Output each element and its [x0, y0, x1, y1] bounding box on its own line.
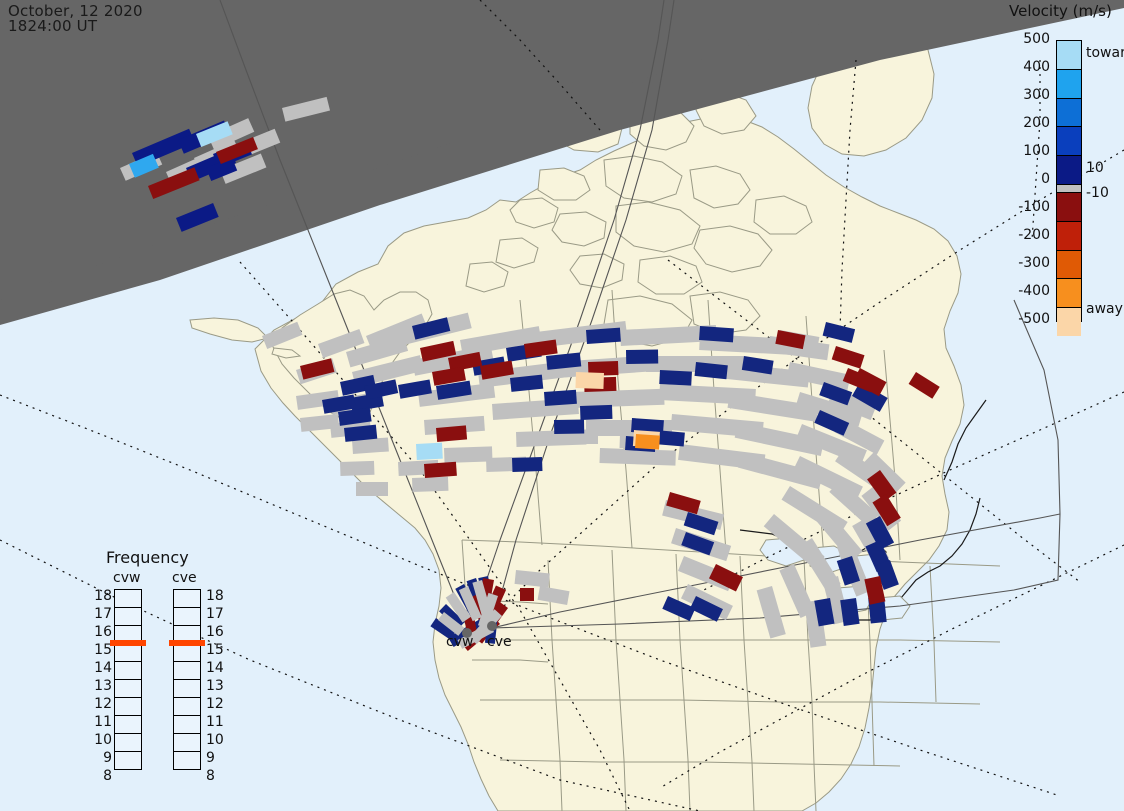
frequency-bar-cvw [114, 589, 142, 770]
freq-seg [115, 608, 141, 626]
colorbar-tick-200: 200 [1004, 115, 1050, 131]
freq-seg [115, 716, 141, 734]
freq-seg [174, 608, 200, 626]
map-site-label-cvw: cvw [446, 634, 473, 650]
colorbar-away-label: away [1086, 301, 1123, 317]
colorbar-tick-m300: -300 [1004, 255, 1050, 271]
freq-tick-cve-8: 8 [206, 768, 230, 784]
freq-tick-cve-18: 18 [206, 588, 230, 604]
velocity-colorbar [1056, 40, 1082, 322]
colorbar-band-7 [1057, 250, 1081, 279]
freq-seg [115, 590, 141, 608]
frequency-header-cvw: cvw [113, 570, 140, 586]
frequency-marker-cve [169, 640, 205, 646]
map-site-label-cve: cve [487, 634, 512, 650]
freq-tick-cve-14: 14 [206, 660, 230, 676]
colorbar-tick-100: 100 [1004, 143, 1050, 159]
freq-seg [174, 716, 200, 734]
colorbar-tick-0: 0 [1004, 171, 1050, 187]
colorbar-band-3 [1057, 126, 1081, 155]
freq-tick-cve-12: 12 [206, 696, 230, 712]
freq-seg [115, 734, 141, 752]
colorbar-tick-m400: -400 [1004, 283, 1050, 299]
freq-seg [174, 698, 200, 716]
colorbar-band-groundscatter [1057, 184, 1081, 193]
freq-seg [115, 662, 141, 680]
freq-seg [115, 752, 141, 770]
frequency-bar-cve [173, 589, 201, 770]
colorbar-band-9 [1057, 307, 1081, 336]
freq-tick-cvw-18: 18 [88, 588, 112, 604]
map-canvas [0, 0, 1124, 811]
colorbar-tick-500: 500 [1004, 31, 1050, 47]
freq-tick-cve-10: 10 [206, 732, 230, 748]
colorbar-band-4 [1057, 155, 1081, 184]
colorbar-band-2 [1057, 98, 1081, 127]
freq-seg [174, 662, 200, 680]
freq-tick-cve-17: 17 [206, 606, 230, 622]
freq-seg [115, 680, 141, 698]
colorbar-gs-upper-label: 10 [1086, 160, 1104, 176]
freq-tick-cvw-15: 15 [88, 642, 112, 658]
colorbar-tick-m100: -100 [1004, 199, 1050, 215]
colorbar-title: Velocity (m/s) [1009, 2, 1112, 20]
freq-tick-cvw-14: 14 [88, 660, 112, 676]
colorbar-band-0 [1057, 41, 1081, 69]
freq-tick-cve-16: 16 [206, 624, 230, 640]
freq-seg [174, 590, 200, 608]
freq-seg [174, 680, 200, 698]
radar-site-dot-cve [487, 621, 497, 631]
freq-seg [115, 644, 141, 662]
colorbar-toward-label: toward [1086, 45, 1124, 61]
freq-tick-cvw-8: 8 [88, 768, 112, 784]
freq-tick-cve-11: 11 [206, 714, 230, 730]
freq-tick-cve-13: 13 [206, 678, 230, 694]
colorbar-band-6 [1057, 221, 1081, 250]
colorbar-tick-400: 400 [1004, 59, 1050, 75]
time-label: 1824:00 UT [8, 17, 97, 35]
colorbar-gs-lower-label: -10 [1086, 185, 1109, 201]
freq-seg [174, 752, 200, 770]
frequency-marker-cvw [110, 640, 146, 646]
frequency-legend-title: Frequency [106, 548, 189, 567]
freq-tick-cve-9: 9 [206, 750, 230, 766]
freq-tick-cvw-11: 11 [88, 714, 112, 730]
colorbar-band-1 [1057, 69, 1081, 98]
colorbar-tick-m500: -500 [1004, 311, 1050, 327]
freq-tick-cve-15: 15 [206, 642, 230, 658]
colorbar-tick-m200: -200 [1004, 227, 1050, 243]
freq-seg [174, 734, 200, 752]
colorbar-band-8 [1057, 278, 1081, 307]
frequency-header-cve: cve [172, 570, 197, 586]
freq-tick-cvw-9: 9 [88, 750, 112, 766]
freq-tick-cvw-13: 13 [88, 678, 112, 694]
freq-seg [174, 644, 200, 662]
freq-seg [115, 698, 141, 716]
freq-tick-cvw-17: 17 [88, 606, 112, 622]
freq-tick-cvw-16: 16 [88, 624, 112, 640]
colorbar-band-5 [1057, 193, 1081, 221]
freq-tick-cvw-12: 12 [88, 696, 112, 712]
colorbar-tick-300: 300 [1004, 87, 1050, 103]
radar-map-figure: October, 12 2020 1824:00 UT Velocity (m/… [0, 0, 1124, 811]
freq-tick-cvw-10: 10 [88, 732, 112, 748]
